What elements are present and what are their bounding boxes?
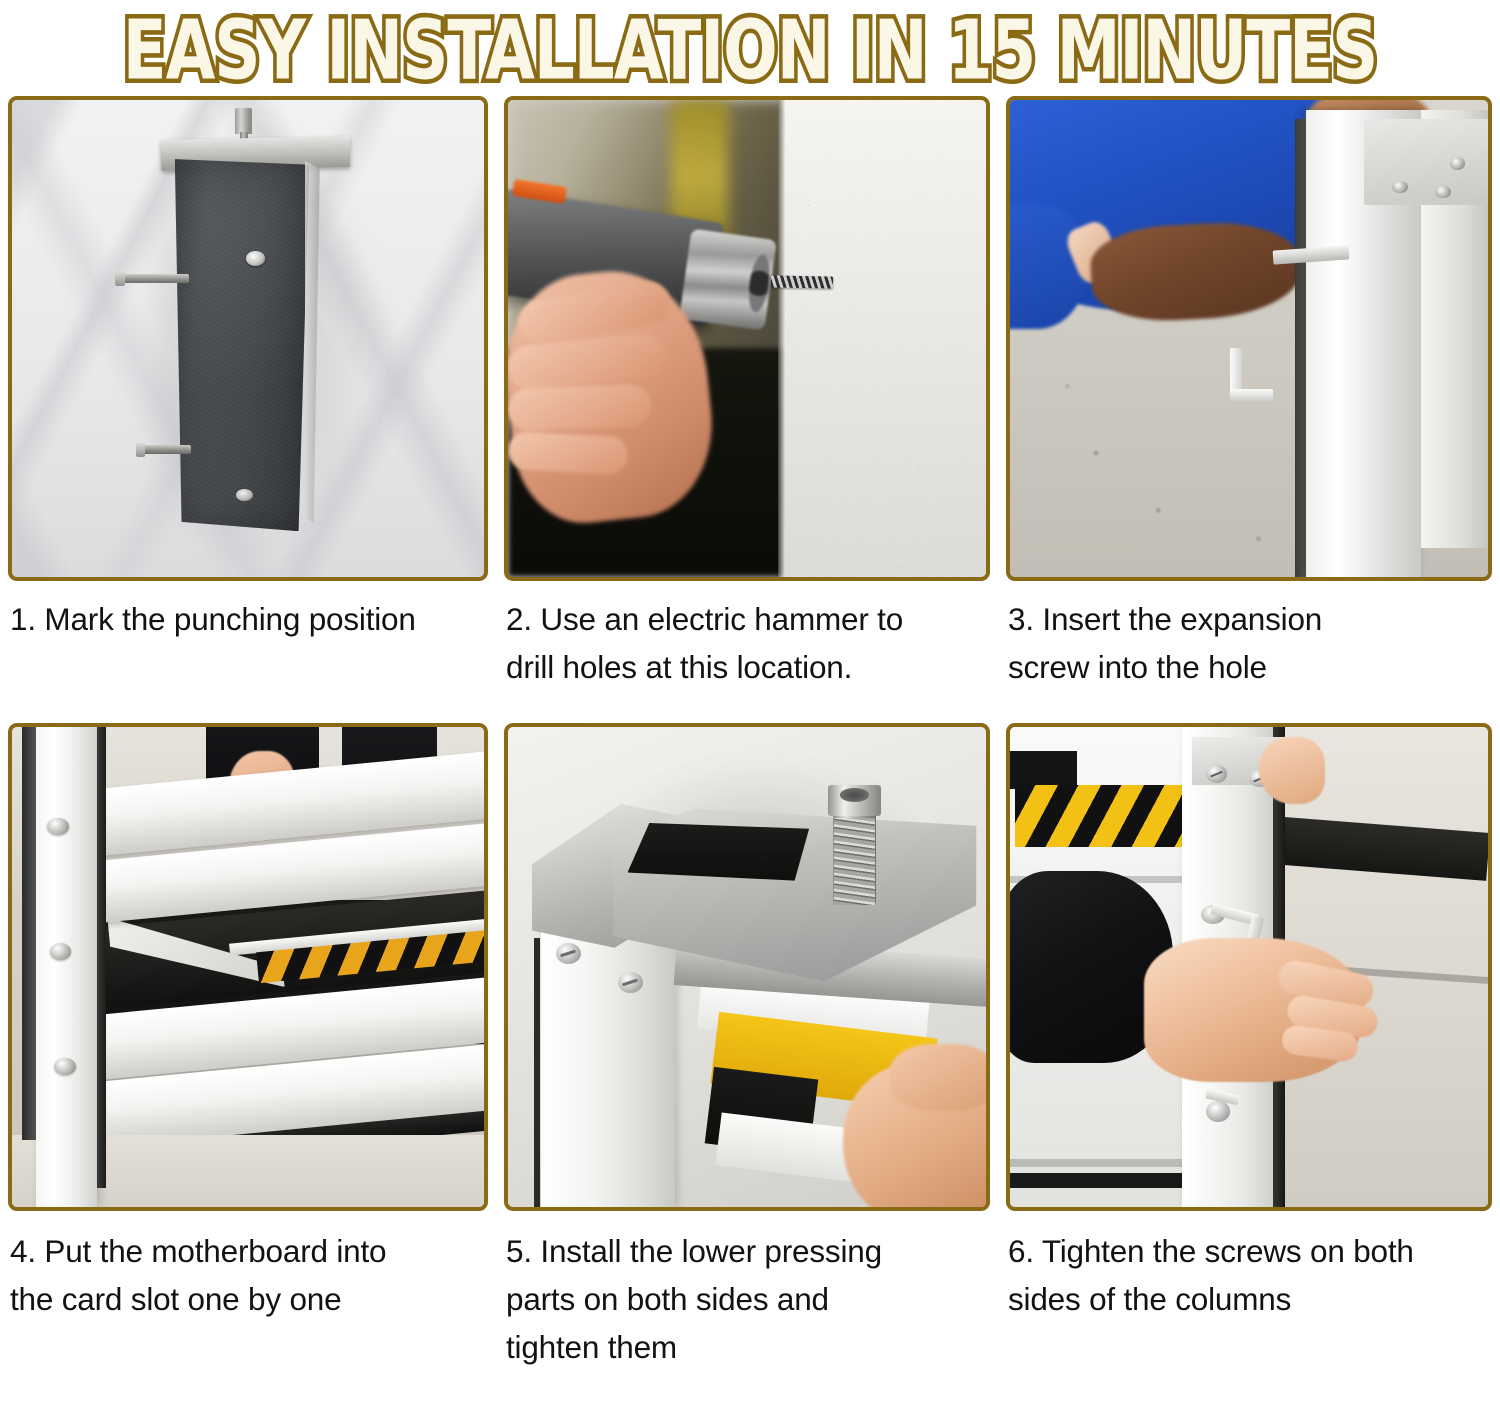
scene-insert-expansion-screw [1010,100,1488,577]
page-title: EASY INSTALLATION IN 15 MINUTES [123,3,1378,98]
white-column-front [541,929,675,1207]
column-slot-groove [97,727,106,1188]
scene-insert-boards [12,727,484,1207]
scene-drill-holes [508,100,986,577]
step-caption-3: 3. Insert the expansion screw into the h… [1006,581,1492,723]
scene-install-pressing-parts [508,727,986,1207]
thumb [1259,737,1326,804]
wall-edge [778,100,786,577]
allen-key-icon [1206,1092,1254,1135]
step-caption-6: 6. Tighten the screws on both sides of t… [1006,1211,1492,1323]
lower-marking-pin [139,445,191,454]
step-caption-4-line2: the card slot one by one [10,1275,486,1323]
plate-slot-opening [628,823,810,881]
step-caption-4-line1: 4. Put the motherboard into [10,1227,486,1275]
hazard-stripe-tape [1015,785,1187,847]
step-caption-6-line1: 6. Tighten the screws on both [1008,1227,1490,1275]
scene-mark-punching-position [12,100,484,577]
bracket-screw-icon [556,943,581,964]
step-caption-2-line2: drill holes at this location. [506,643,988,691]
bolt-head-icon [828,785,881,816]
bolt-threads [834,818,875,904]
header-banner: EASY INSTALLATION IN 15 MINUTES [0,0,1500,96]
finger [890,1044,986,1111]
step-caption-5-line3: tighten them [506,1323,988,1371]
top-screw-icon [1206,765,1227,782]
column-dark-edge [534,938,540,1207]
steps-row-top: 1. Mark the punching position [0,96,1500,723]
step-caption-3-line1: 3. Insert the expansion [1008,595,1490,643]
step-caption-5-line2: parts on both sides and [506,1275,988,1323]
white-card-slot-column [36,727,97,1207]
step-card-5: 5. Install the lower pressing parts on b… [496,723,998,1371]
column-top-plate [1364,119,1488,205]
drill-chuck [679,228,777,330]
step-photo-2 [504,96,990,581]
step-caption-5-line1: 5. Install the lower pressing [506,1227,988,1275]
step-card-2: 2. Use an electric hammer to drill holes… [496,96,998,723]
step-photo-4 [8,723,488,1211]
step-card-1: 1. Mark the punching position [0,96,496,723]
step-card-3: 3. Insert the expansion screw into the h… [998,96,1500,723]
dark-column-post [175,159,310,531]
top-bolt-head-icon [235,108,252,135]
step-photo-6 [1006,723,1492,1211]
upper-marking-pin [118,274,189,284]
step-photo-1 [8,96,488,581]
scene-tighten-screws [1010,727,1488,1207]
expansion-screw-icon [1435,186,1450,198]
step-caption-1-line1: 1. Mark the punching position [10,595,486,643]
drill-bit-icon [771,275,833,288]
step-photo-5 [504,723,990,1211]
expansion-screw-icon [1450,157,1465,169]
step-caption-6-line2: sides of the columns [1008,1275,1490,1323]
allen-key-icon [1230,348,1287,410]
board-base-dark [1010,1173,1182,1187]
board-seam [1010,1159,1201,1167]
finger [508,431,628,475]
step-caption-2: 2. Use an electric hammer to drill holes… [504,581,990,723]
step-caption-5: 5. Install the lower pressing parts on b… [504,1211,990,1371]
steps-row-bottom: 4. Put the motherboard into the card slo… [0,723,1500,1371]
bracket-screw-icon [618,972,643,993]
step-caption-1: 1. Mark the punching position [8,581,488,723]
finger [508,384,652,432]
column-left-shadow [22,727,35,1140]
step-card-4: 4. Put the motherboard into the card slo… [0,723,496,1371]
step-photo-3 [1006,96,1492,581]
step-caption-4: 4. Put the motherboard into the card slo… [8,1211,488,1323]
white-textured-wall [785,100,986,577]
step-card-6: 6. Tighten the screws on both sides of t… [998,723,1500,1371]
step-caption-2-line1: 2. Use an electric hammer to [506,595,988,643]
step-caption-3-line2: screw into the hole [1008,643,1490,691]
upper-mounting-hole [246,251,266,266]
